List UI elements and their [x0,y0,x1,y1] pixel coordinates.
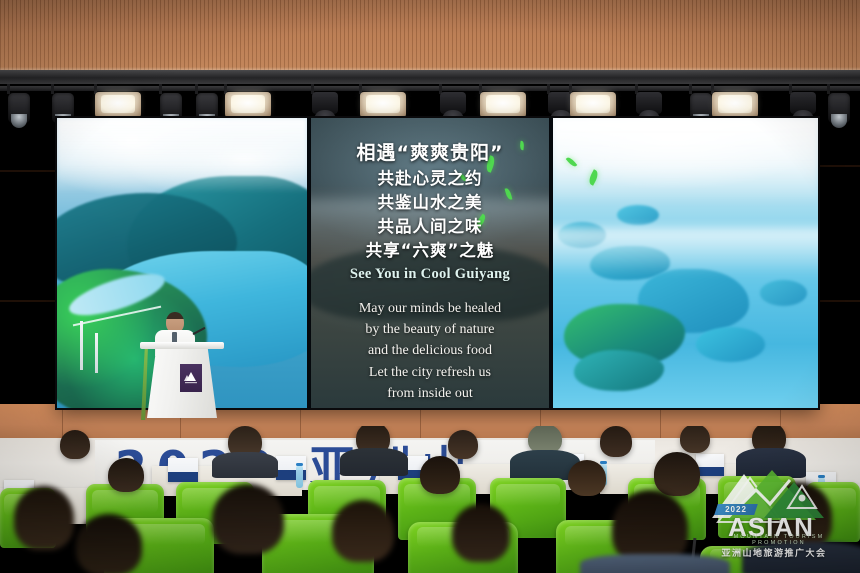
logo-subtitle: MOUNTAIN TOURISM PROMOTION [716,534,842,546]
slide-en-line: May our minds be healed [311,298,549,319]
wall-seam [0,300,62,302]
audience-shoulders [340,448,408,476]
water-bottle [296,466,303,488]
slide-cn-line: 共赴心灵之约 [311,167,549,191]
lighting-truss [0,70,860,84]
slide-cn-line: 共鉴山水之美 [311,191,549,215]
slide-en-line: and the delicious food [311,340,549,361]
podium-top-edge [140,342,224,349]
slide-cn-line: 共享“六爽”之魅 [311,239,549,263]
screen-panel-right [553,118,818,408]
audience-head [420,456,460,494]
slide-en-lines: May our minds be healed by the beauty of… [311,298,549,404]
wall-seam [812,300,860,302]
foreground-head [212,484,284,554]
slide-cn-line: 共品人间之味 [311,215,549,239]
bottle-cap [296,463,303,466]
name-card-band [168,472,198,482]
foreground-head [332,500,394,562]
audience-head [680,426,710,453]
slide-en-line: from inside out [311,383,549,404]
bottle-cap [600,461,607,464]
audience-head [654,452,700,496]
wall-seam [0,170,62,172]
slide-en-heading: See You in Cool Guiyang [311,266,549,283]
conference-photo: 2022 亚洲山 [0,0,860,573]
audience-head [568,460,606,496]
foreground-head [14,486,74,550]
foreground-head [452,504,510,562]
audience-shoulders [212,452,278,478]
slide-cn-title: 相遇“爽爽贵阳” [311,138,549,165]
wall-seam [812,165,860,167]
logo-cn-name: 亚洲山地旅游推广大会 [698,546,850,559]
screen-panel-center: 相遇“爽爽贵阳” 共赴心灵之约 共鉴山水之美 共品人间之味 共享“六爽”之魅 S… [311,118,549,408]
foreground-head [76,514,142,573]
slide-cn-lines: 共赴心灵之约 共鉴山水之美 共品人间之味 共享“六爽”之魅 [311,167,549,263]
audience-head [108,458,144,492]
ceiling-wood-slats [0,0,860,75]
audience-head [600,426,632,457]
slide-en-line: by the beauty of nature [311,319,549,340]
podium-logo [180,364,202,392]
event-logo-watermark: 2022 ASIAN MOUNTAIN TOURISM PROMOTION 亚洲… [698,468,850,568]
audience-head [60,430,90,459]
audience-head [448,430,478,459]
slide-en-line: Let the city refresh us [311,362,549,383]
lighting-truss-lower [0,86,860,91]
